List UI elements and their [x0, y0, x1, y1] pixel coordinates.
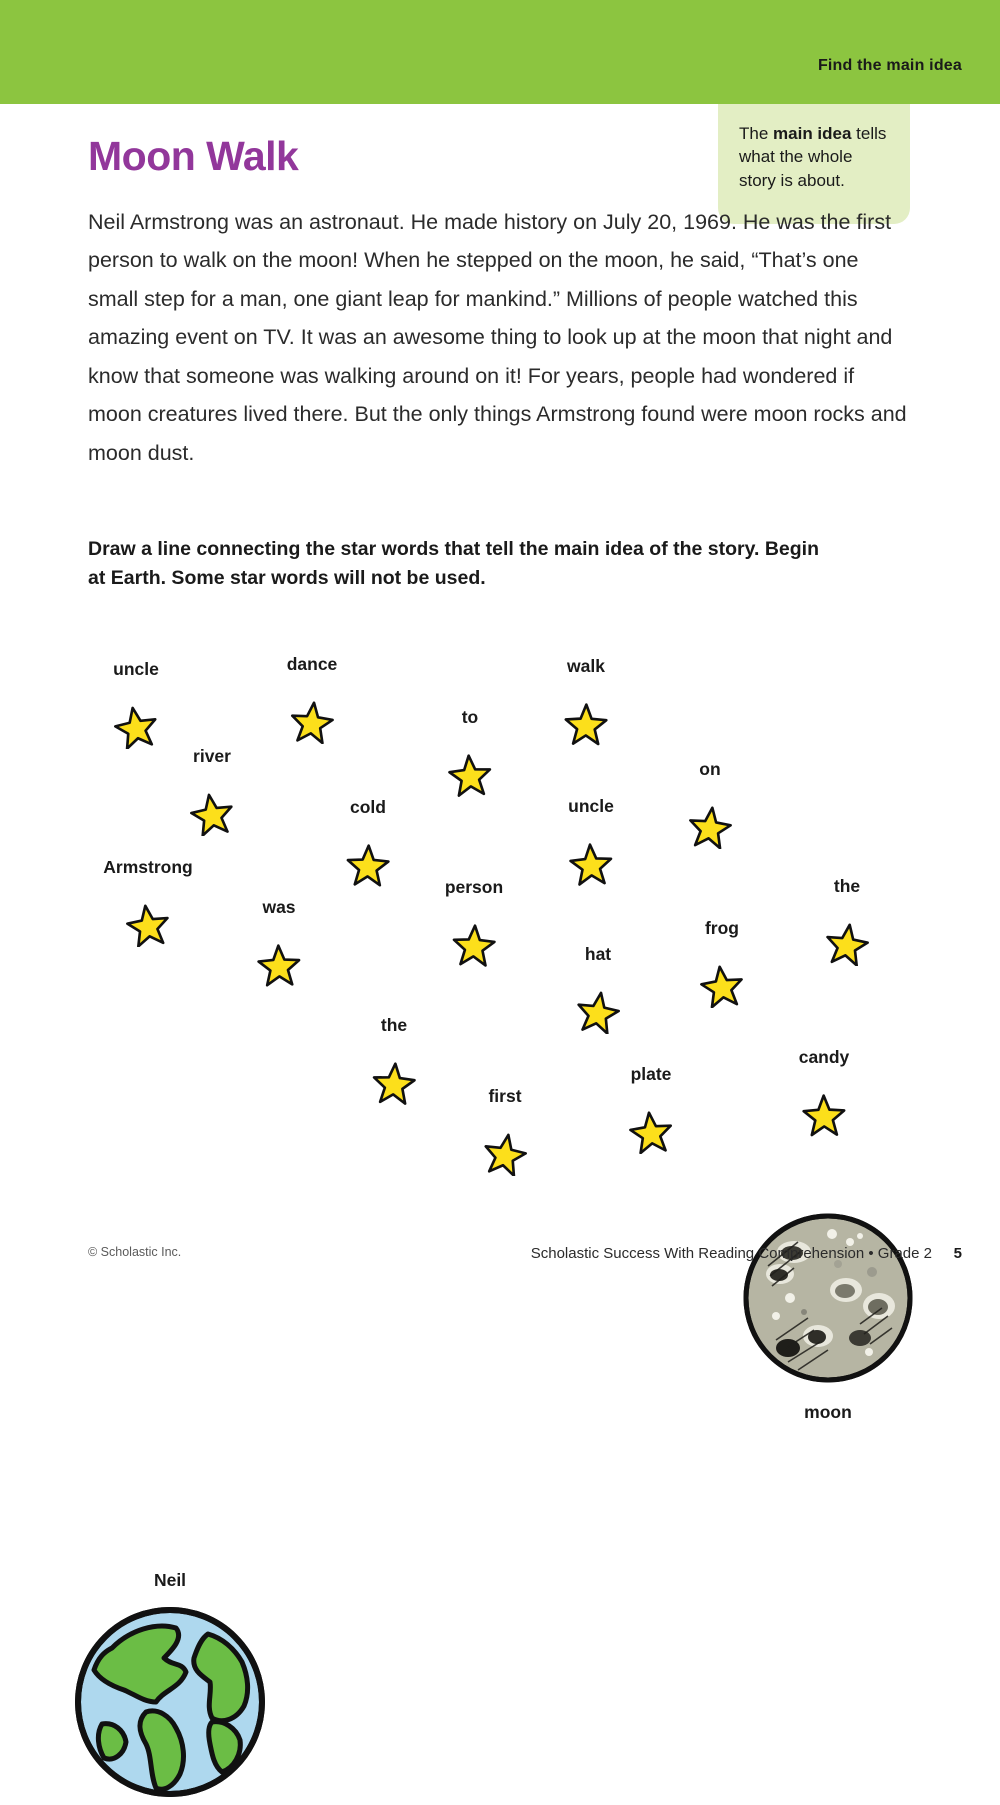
earth-illustration: Neil	[72, 1604, 268, 1800]
footer-copyright: © Scholastic Inc.	[88, 1245, 181, 1259]
star-shape	[290, 700, 334, 744]
moon-label: moon	[804, 1404, 852, 1422]
page-title: Moon Walk	[88, 133, 298, 180]
star-shape	[372, 1061, 416, 1105]
star-shape	[576, 990, 620, 1034]
star-icon[interactable]	[629, 1110, 673, 1154]
star-shape	[802, 1093, 846, 1137]
star-shape	[700, 964, 744, 1008]
star-icon[interactable]	[448, 753, 492, 797]
star-shape	[126, 903, 170, 947]
star-word-label: plate	[631, 1066, 672, 1084]
callout-bold-term: main idea	[773, 124, 851, 143]
star-icon[interactable]	[290, 700, 334, 744]
star-word-label: the	[381, 1017, 407, 1035]
star-word-label: frog	[705, 920, 739, 938]
star-shape	[114, 705, 158, 749]
page-footer: © Scholastic Inc. Scholastic Success Wit…	[0, 1245, 1000, 1265]
star-word-label: uncle	[568, 798, 614, 816]
star-word-label: candy	[799, 1049, 850, 1067]
star-icon[interactable]	[825, 922, 869, 966]
star-icon[interactable]	[372, 1061, 416, 1105]
footer-source: Scholastic Success With Reading Comprehe…	[531, 1245, 932, 1262]
star-shape	[564, 702, 608, 746]
star-word-label: Armstrong	[103, 859, 192, 877]
star-shape	[688, 805, 732, 849]
star-shape	[569, 842, 613, 886]
star-word-field: uncledancewalktoriveroncolduncleArmstron…	[0, 600, 1000, 1220]
earth-icon	[72, 1604, 268, 1800]
moon-icon	[742, 1212, 914, 1384]
moon-illustration: moon	[742, 1212, 914, 1384]
star-word-label: the	[834, 878, 860, 896]
star-icon[interactable]	[190, 792, 234, 836]
star-icon[interactable]	[452, 923, 496, 967]
star-shape	[346, 843, 390, 887]
star-icon[interactable]	[114, 705, 158, 749]
star-word-label: cold	[350, 799, 386, 817]
star-shape	[825, 922, 869, 966]
star-icon[interactable]	[576, 990, 620, 1034]
callout-text-before: The	[739, 124, 773, 143]
star-word-label: uncle	[113, 661, 159, 679]
star-shape	[452, 923, 496, 967]
star-icon[interactable]	[126, 903, 170, 947]
activity-instructions: Draw a line connecting the star words th…	[88, 535, 828, 594]
star-icon[interactable]	[802, 1093, 846, 1137]
star-shape	[257, 943, 301, 987]
star-word-label: dance	[287, 656, 338, 674]
star-icon[interactable]	[564, 702, 608, 746]
star-word-label: on	[699, 761, 720, 779]
star-icon[interactable]	[346, 843, 390, 887]
star-icon[interactable]	[257, 943, 301, 987]
star-icon[interactable]	[688, 805, 732, 849]
footer-page-number: 5	[954, 1245, 962, 1262]
story-passage: Neil Armstrong was an astronaut. He made…	[88, 203, 912, 472]
skill-label: Find the main idea	[818, 57, 962, 75]
star-shape	[190, 792, 234, 836]
star-word-label: was	[262, 899, 295, 917]
star-icon[interactable]	[569, 842, 613, 886]
star-icon[interactable]	[483, 1132, 527, 1176]
star-word-label: walk	[567, 658, 605, 676]
earth-label: Neil	[154, 1572, 186, 1590]
star-word-label: person	[445, 879, 503, 897]
star-word-label: first	[488, 1088, 521, 1106]
star-shape	[629, 1110, 673, 1154]
callout-text: The main idea tells what the whole story…	[739, 122, 890, 192]
star-word-label: to	[462, 709, 479, 727]
star-icon[interactable]	[700, 964, 744, 1008]
star-word-label: hat	[585, 946, 611, 964]
star-shape	[448, 753, 492, 797]
star-word-label: river	[193, 748, 231, 766]
page-header-bar: Find the main idea	[0, 0, 1000, 104]
star-shape	[483, 1132, 527, 1176]
